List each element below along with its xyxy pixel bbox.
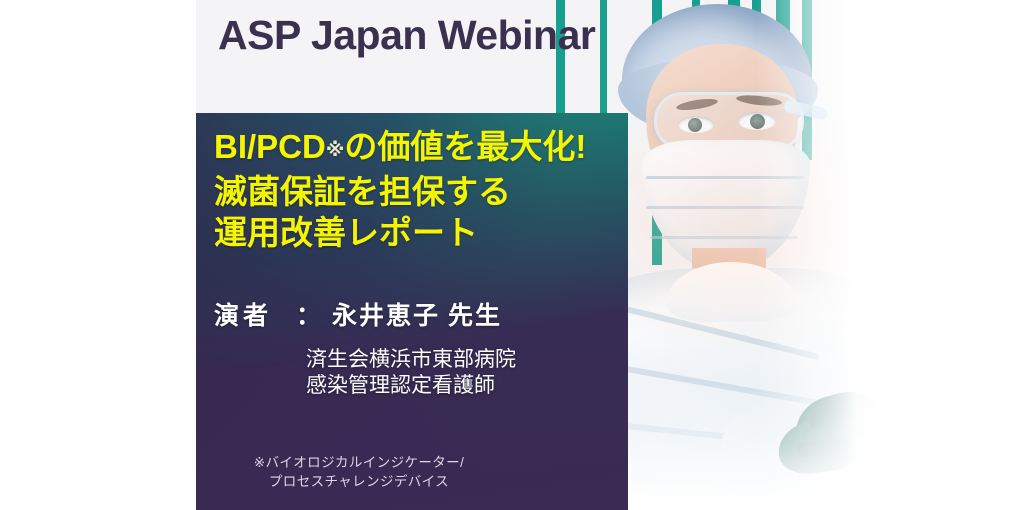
headline-line-1: BI/PCD※の価値を最大化! (214, 126, 586, 171)
headline-line-1-main: BI/PCD (214, 128, 326, 165)
footnote-line-2: プロセスチャレンジデバイス (204, 472, 514, 491)
page-title: ASP Japan Webinar (218, 12, 595, 59)
headline-line-3: 運用改善レポート (214, 212, 586, 253)
screenshot-root: ASP Japan Webinar BI/PCD※の価値を最大化! 滅菌保証を担… (0, 0, 1020, 510)
title-panel-content: BI/PCD※の価値を最大化! 滅菌保証を担保する 運用改善レポート 演者：永井… (196, 113, 628, 510)
footnote: ※バイオロジカルインジケーター/ プロセスチャレンジデバイス (204, 453, 514, 491)
speaker-honorific: 先生 (448, 302, 502, 330)
headline-line-1-tail: の価値を最大化! (344, 128, 586, 165)
speaker-name-last: 恵子 (386, 302, 440, 330)
speaker-separator: ： (296, 302, 322, 330)
headline-block: BI/PCD※の価値を最大化! 滅菌保証を担保する 運用改善レポート (214, 126, 586, 253)
headline-line-2: 滅菌保証を担保する (214, 171, 586, 212)
reference-mark-icon: ※ (326, 140, 344, 161)
speaker-row: 演者：永井恵子 先生 (214, 296, 502, 332)
webinar-banner: ASP Japan Webinar BI/PCD※の価値を最大化! 滅菌保証を担… (196, 0, 1020, 510)
speaker-label: 演者 (214, 302, 272, 330)
speaker-affiliation: 済生会横浜市東部病院 感染管理認定看護師 (306, 347, 516, 399)
footnote-line-1: ※バイオロジカルインジケーター/ (204, 453, 514, 472)
affiliation-line-1: 済生会横浜市東部病院 (306, 347, 516, 373)
speaker-name-first: 永井 (332, 302, 386, 330)
affiliation-line-2: 感染管理認定看護師 (306, 373, 516, 399)
